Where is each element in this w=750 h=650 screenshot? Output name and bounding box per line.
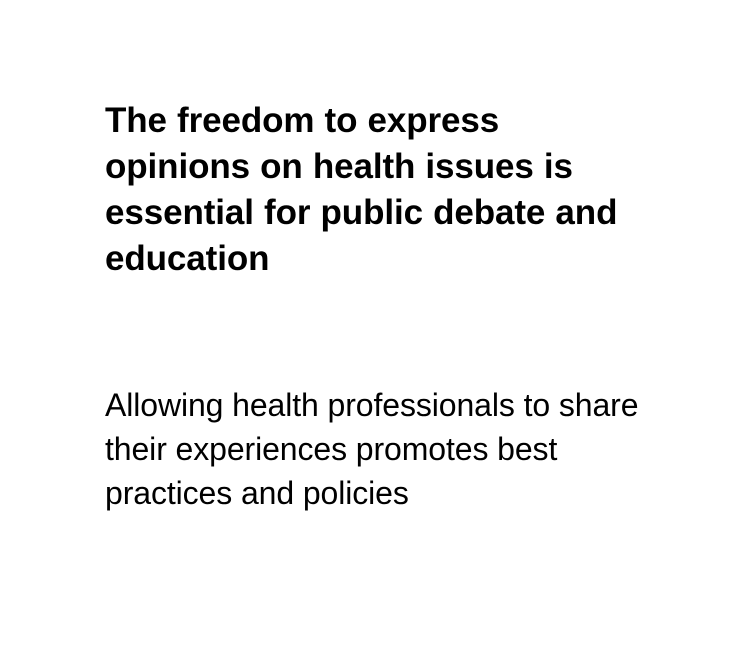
- slide-headline: The freedom to express opinions on healt…: [105, 98, 650, 282]
- slide-body-text: Allowing health professionals to share t…: [105, 383, 650, 515]
- body-block: Allowing health professionals to share t…: [105, 383, 650, 515]
- slide-canvas: The freedom to express opinions on healt…: [0, 0, 750, 650]
- headline-block: The freedom to express opinions on healt…: [105, 98, 650, 282]
